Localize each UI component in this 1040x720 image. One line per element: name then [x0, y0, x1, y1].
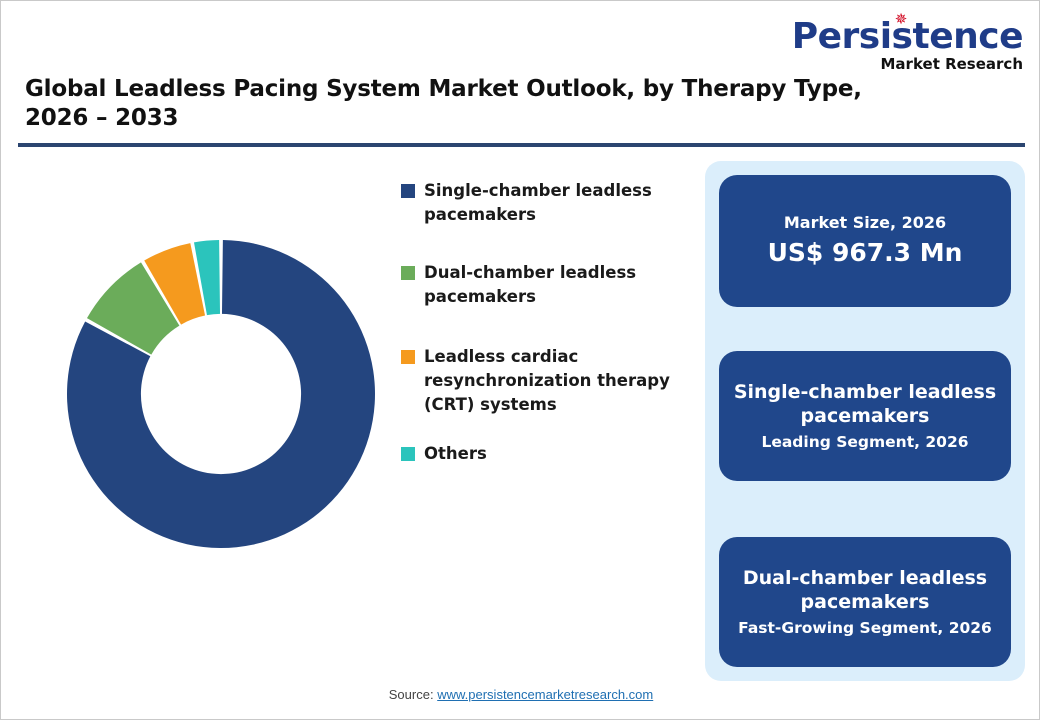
brand-logo: Persistence ✵ Market Research [783, 19, 1023, 72]
page-title: Global Leadless Pacing System Market Out… [25, 75, 905, 134]
legend-item-others[interactable]: Others [401, 442, 693, 466]
stat-card-fast-growing-segment[interactable]: Dual-chamber leadless pacemakers Fast-Gr… [719, 537, 1011, 667]
stat-card-value: US$ 967.3 Mn [768, 237, 963, 268]
stat-card-market-size[interactable]: Market Size, 2026 US$ 967.3 Mn [719, 175, 1011, 307]
stat-card-subtitle: Market Size, 2026 [784, 213, 946, 234]
donut-chart-svg [65, 238, 377, 550]
legend-item-dual-chamber[interactable]: Dual-chamber leadless pacemakers [401, 261, 693, 309]
brand-name-text: Persistence ✵ [792, 19, 1023, 55]
chart-legend: Single-chamber leadless pacemakers Dual-… [401, 179, 693, 492]
legend-swatch-icon [401, 266, 415, 280]
legend-item-crt-systems[interactable]: Leadless cardiac resynchronization thera… [401, 345, 693, 417]
legend-item-label: Single-chamber leadless pacemakers [424, 179, 693, 227]
brand-star-icon: ✵ [895, 12, 907, 27]
legend-item-single-chamber[interactable]: Single-chamber leadless pacemakers [401, 179, 693, 227]
source-link[interactable]: www.persistencemarketresearch.com [437, 687, 653, 702]
legend-item-label: Dual-chamber leadless pacemakers [424, 261, 693, 309]
stat-card-leading-segment[interactable]: Single-chamber leadless pacemakers Leadi… [719, 351, 1011, 481]
source-line: Source: www.persistencemarketresearch.co… [1, 687, 1040, 702]
legend-swatch-icon [401, 447, 415, 461]
brand-name-label: Persistence [792, 16, 1023, 57]
legend-item-label: Others [424, 442, 487, 466]
donut-chart [65, 238, 377, 550]
stat-card-note: Fast-Growing Segment, 2026 [738, 618, 992, 638]
stat-card-title: Dual-chamber leadless pacemakers [733, 566, 997, 615]
header-divider [18, 143, 1025, 147]
infographic-page: Persistence ✵ Market Research Global Lea… [0, 0, 1040, 720]
stat-card-title: Single-chamber leadless pacemakers [733, 380, 997, 429]
legend-swatch-icon [401, 350, 415, 364]
brand-tagline: Market Research [783, 57, 1023, 72]
legend-swatch-icon [401, 184, 415, 198]
legend-item-label: Leadless cardiac resynchronization thera… [424, 345, 693, 417]
stats-panel: Market Size, 2026 US$ 967.3 Mn Single-ch… [705, 161, 1025, 681]
source-label: Source: [389, 687, 434, 702]
stat-card-note: Leading Segment, 2026 [761, 432, 968, 452]
